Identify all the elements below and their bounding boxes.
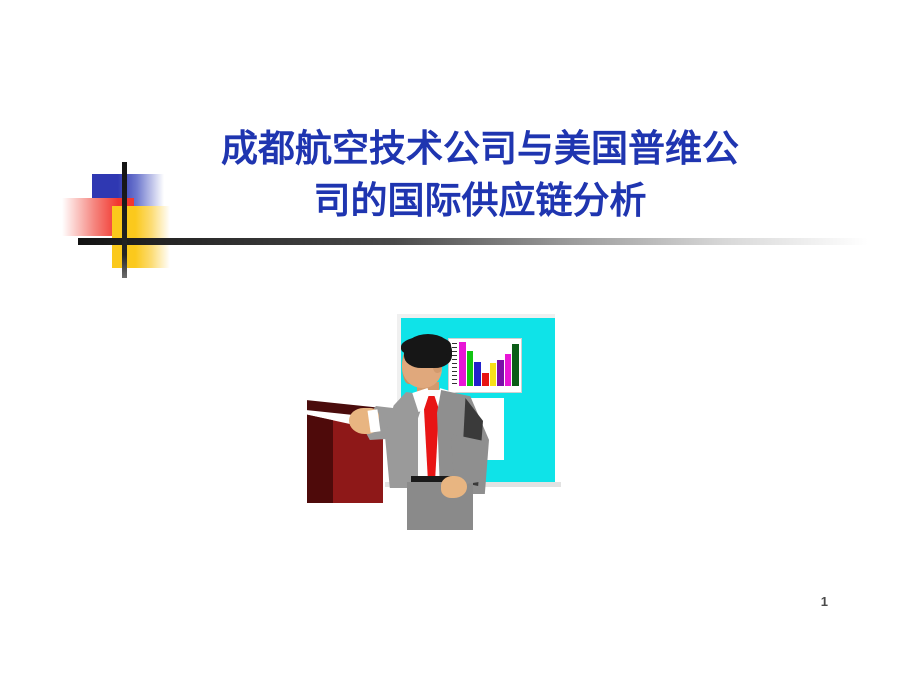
presenter-clipart	[305, 312, 555, 508]
title-line-1: 成都航空技术公司与美国普维公	[221, 126, 739, 170]
chart-bar	[490, 363, 497, 386]
presenter-right-hand	[441, 476, 467, 498]
chart-bar	[505, 354, 512, 386]
slide-canvas: 成都航空技术公司与美国普维公 司的国际供应链分析	[0, 0, 920, 690]
page-number: 1	[821, 594, 828, 609]
podium-side	[307, 411, 333, 503]
deco-horizontal-rule	[78, 238, 868, 245]
presenter-hair-front	[401, 336, 451, 356]
title-line-2: 司的国际供应链分析	[314, 178, 647, 222]
page-title: 成都航空技术公司与美国普维公 司的国际供应链分析	[130, 122, 830, 226]
presenter-figure	[365, 334, 489, 508]
chart-bar	[512, 344, 519, 386]
chart-bar	[497, 360, 504, 386]
deco-vertical-rule	[122, 162, 127, 278]
